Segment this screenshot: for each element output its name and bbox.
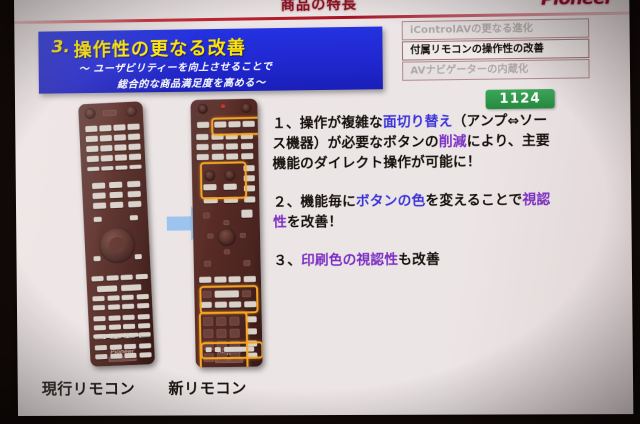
new-remote-number-key [216, 317, 226, 326]
bullet-line: 性を改善！ [273, 211, 601, 234]
old-remote-tv-button [92, 192, 105, 198]
old-remote-return-button [135, 254, 142, 259]
new-remote-caption: 新リモコン [168, 377, 247, 398]
old-remote-transport-button [122, 295, 134, 301]
old-remote-volume-button [128, 201, 141, 207]
new-remote-transport-button [244, 301, 256, 307]
new-remote-feature-button [228, 276, 240, 282]
new-remote-indicator [221, 104, 225, 108]
old-remote-tv-button [109, 192, 122, 198]
old-remote-tuner-button [93, 334, 103, 338]
new-remote-source-button [241, 153, 253, 159]
old-remote-source-button [114, 134, 126, 140]
old-remote-function-button [121, 284, 141, 290]
old-remote-source-button [127, 124, 139, 130]
old-remote-extra-button [110, 353, 122, 359]
bullet-text: を変えることで [425, 193, 522, 209]
new-remote-source-button [240, 143, 252, 149]
old-remote-numeric-button [137, 314, 149, 320]
old-remote-feature-button [135, 274, 147, 280]
old-remote-source-button [113, 124, 125, 130]
new-remote-strip-slider [224, 346, 255, 352]
new-remote-number-key [229, 329, 239, 338]
nav-item-label: iControlAVの更なる進化 [410, 23, 533, 36]
old-remote-transport-button [107, 304, 119, 310]
nav-item-0[interactable]: iControlAVの更なる進化 [402, 18, 590, 40]
new-remote-source-button [226, 133, 238, 139]
old-remote-numeric-button [137, 323, 149, 329]
bullet-1: １、操作が複雑な面切り替え（アンプ⇔ソース機器）が必要なボタンの削減により、主要… [272, 111, 601, 176]
new-remote-strip-button [215, 347, 221, 352]
new-remote-home-button [203, 212, 210, 218]
section-number: 3. [51, 37, 70, 57]
bullet-text: 機能のダイレクト操作が可能に！ [272, 155, 481, 172]
old-remote-extra-button [109, 344, 121, 350]
pioneer-logo: Pioneer [541, 0, 613, 10]
bullet-text: を改善！ [287, 215, 343, 231]
new-remote-image: Pioneer [190, 99, 262, 368]
old-remote-setup-button [93, 256, 100, 261]
old-remote-input-button [115, 165, 127, 170]
nav-item-2[interactable]: AVナビゲーターの内蔵化 [402, 59, 590, 81]
old-remote-source-button [86, 136, 98, 142]
old-remote-source-button [86, 146, 98, 152]
old-remote-numeric-button [122, 315, 134, 321]
old-remote-image: Pioneer [78, 101, 155, 367]
section-subtitle-line2: 総合的な商品満足度を高める～ [117, 74, 266, 91]
old-remote-volume-button [127, 181, 140, 187]
new-remote-source-button [211, 134, 223, 140]
new-remote-transport-button [214, 302, 226, 308]
new-remote-volume-up [243, 165, 254, 171]
new-remote-number-key [216, 329, 226, 338]
new-remote-number-key [229, 317, 239, 326]
old-remote-source-button [100, 145, 112, 151]
new-remote-feature-button [214, 276, 226, 282]
old-remote-extra-button [95, 345, 107, 351]
old-remote-tv-button [109, 182, 122, 188]
bullet-highlight-purple: 削減 [439, 135, 467, 151]
old-remote-source-button [129, 154, 141, 160]
new-remote-source-button [240, 133, 252, 139]
new-remote-source-button [214, 121, 226, 127]
new-remote-dpad-right [240, 233, 246, 238]
old-remote-extra-button [95, 354, 107, 360]
old-remote-tv-button [93, 202, 106, 208]
page-number-badge: 1124 [485, 89, 554, 109]
bullet-text: ス機器）が必要なボタンの [272, 135, 439, 152]
new-remote-setup-button [204, 261, 211, 267]
old-remote-source-button [114, 144, 126, 150]
projected-slide-photo: 商品の特長 Pioneer 3. 操作性の更なる改善 ～ ユーザビリティーを向上… [0, 0, 640, 424]
new-remote-source-button [196, 144, 208, 150]
new-remote-source-button [243, 121, 255, 127]
new-remote-side-button [246, 328, 257, 334]
nav-item-1[interactable]: 付属リモコンの操作性の改善 [402, 39, 590, 61]
new-remote-transport-next [242, 290, 251, 297]
new-remote-source-button [211, 154, 223, 160]
new-remote-mute [244, 185, 255, 191]
new-remote-feature-button [199, 277, 211, 283]
new-remote-input-select [224, 184, 237, 190]
slide-canvas: 商品の特長 Pioneer 3. 操作性の更なる改善 ～ ユーザビリティーを向上… [14, 0, 633, 416]
old-remote-source-button [115, 154, 127, 160]
old-remote-transport-button [107, 295, 119, 301]
new-remote-strip-button [206, 347, 212, 352]
new-remote-band-button [244, 196, 255, 202]
old-remote-transport-button [92, 296, 104, 302]
bullet-text: ２、機能毎に [273, 195, 356, 211]
arrow-shaft [167, 216, 193, 230]
bullet-line: ３、印刷色の視認性も改善 [273, 249, 601, 272]
new-remote-volume-down [244, 175, 255, 181]
new-remote-dpad-down [224, 249, 230, 254]
new-remote-transport-prev [202, 291, 211, 298]
new-remote-number-key [203, 317, 213, 326]
old-remote-source-button [87, 156, 99, 162]
new-remote-transport-button [229, 301, 241, 307]
agenda-nav[interactable]: iControlAVの更なる進化付属リモコンの操作性の改善AVナビゲーターの内蔵… [402, 18, 590, 82]
new-remote-number-key [203, 329, 213, 338]
old-remote-feature-button [121, 275, 133, 281]
old-remote-numeric-button [108, 324, 120, 330]
bullet-2: ２、機能毎にボタンの色を変えることで視認性を改善！ [273, 190, 602, 234]
new-remote-band-button [224, 197, 238, 203]
bullet-text: も改善 [398, 253, 440, 269]
new-remote-dpad-left [207, 233, 213, 238]
old-remote-transport-button [93, 305, 105, 311]
new-remote-band-button [204, 197, 218, 203]
old-remote-feature-button [91, 276, 103, 282]
old-remote-transport-button [136, 294, 148, 300]
old-remote-numeric-button [123, 324, 135, 330]
old-remote-input-button [87, 167, 99, 172]
new-remote-feature-button [243, 276, 255, 282]
new-remote-return-button [243, 260, 250, 266]
old-remote-favorite-button [94, 217, 102, 222]
bullet-highlight-blue: 面切り替え [383, 115, 453, 131]
bullet-text: １、操作が複雑な [272, 115, 383, 131]
old-remote-source-button [128, 144, 140, 150]
old-remote-transport-button [122, 304, 134, 310]
bullet-highlight-purple: 印刷色の視認性 [301, 253, 398, 269]
old-remote-extra-button [124, 344, 136, 350]
old-remote-transport-button [137, 303, 149, 309]
bullet-text: により、主要 [467, 134, 550, 150]
nav-item-label: AVナビゲーターの内蔵化 [410, 64, 528, 77]
old-remote-extra-button [138, 343, 150, 349]
old-remote-feature-button [106, 275, 118, 281]
old-remote-source-button [101, 155, 113, 161]
nav-item-label: 付属リモコンの操作性の改善 [410, 43, 544, 56]
old-remote-extra-button [139, 352, 151, 358]
new-remote-side-button [246, 352, 257, 358]
old-remote-source-button [128, 134, 140, 140]
bullet-3: ３、印刷色の視認性も改善 [273, 249, 601, 272]
new-remote-number-key [217, 353, 227, 362]
old-remote-numeric-button [108, 315, 120, 321]
old-remote-tv-button [92, 182, 105, 188]
new-remote-transport-play [215, 290, 239, 297]
new-remote-number-key [230, 353, 240, 362]
section-subtitle-line1: ～ ユーザビリティーを向上させることで [79, 57, 273, 75]
new-remote-input-button [197, 122, 209, 128]
bullet-highlight-blue: ボタンの色 [356, 194, 426, 210]
bullet-text: （アンプ⇔ソー [453, 113, 548, 129]
bullet-highlight-purple: 視認 [522, 193, 550, 209]
old-remote-caption: 現行リモコン [42, 378, 136, 399]
old-remote-tv-button [110, 202, 123, 208]
old-remote-tuner-button [117, 333, 127, 337]
new-remote-source-button [196, 134, 208, 140]
new-remote-source-button [226, 153, 238, 159]
new-remote-source-button [226, 143, 238, 149]
old-remote-tuner-button [129, 333, 139, 337]
new-remote-side-button [245, 316, 256, 322]
old-remote-function-button [97, 285, 117, 291]
old-remote-volume-button [128, 191, 141, 197]
feature-bullet-list: １、操作が複雑な面切り替え（アンプ⇔ソース機器）が必要なボタンの削減により、主要… [272, 111, 602, 272]
old-remote-tuner-button [105, 334, 115, 338]
old-remote-source-button [99, 125, 111, 131]
old-remote-mode-display [103, 110, 117, 117]
old-remote-numeric-button [93, 316, 105, 322]
old-remote-extra-button [124, 353, 136, 359]
new-remote-dpad-up [223, 220, 229, 225]
old-remote-source-button [100, 135, 112, 141]
new-remote-source-button [228, 121, 240, 127]
new-remote-source-button [211, 144, 223, 150]
bullet-text: ３、 [273, 254, 301, 269]
section-banner: 3. 操作性の更なる改善 ～ ユーザビリティーを向上させることで 総合的な商品満… [38, 26, 383, 93]
old-remote-input-button [101, 166, 113, 171]
new-remote-pen-button [241, 210, 252, 218]
old-remote-source-button [85, 126, 97, 132]
bullet-highlight-purple: 性 [273, 216, 287, 231]
new-remote-transport-button [200, 302, 212, 308]
new-remote-number-key [204, 353, 214, 362]
old-remote-numeric-button [94, 325, 106, 331]
old-remote-input-button [129, 165, 141, 170]
new-remote-source-button [197, 154, 209, 160]
old-remote-tuner-button [141, 332, 151, 336]
old-remote-favorite-button [130, 215, 138, 220]
new-remote-input-select [203, 184, 216, 190]
